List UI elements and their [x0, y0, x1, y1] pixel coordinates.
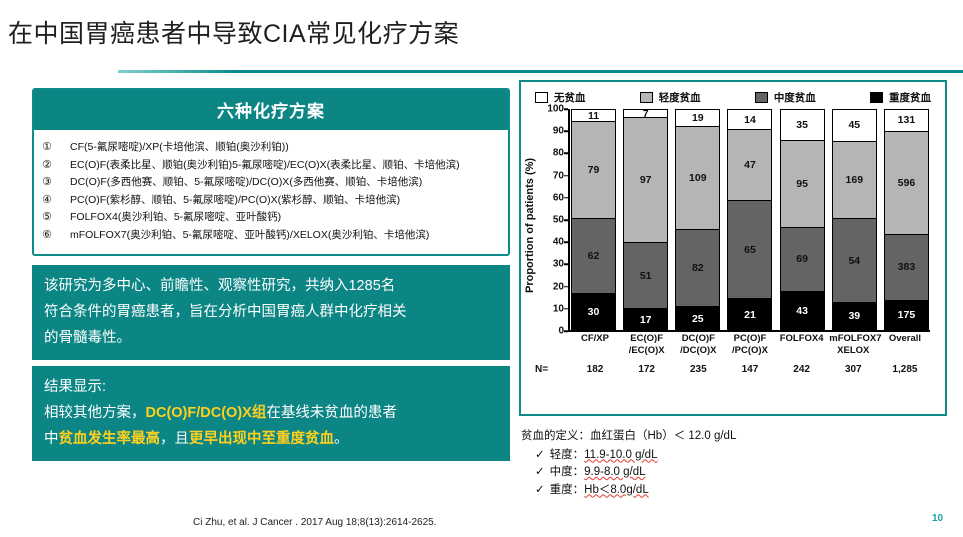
- y-axis-line: [568, 109, 570, 331]
- page-title: 在中国胃癌患者中导致CIA常见化疗方案: [8, 14, 459, 50]
- bar-segment-mild: 169: [832, 142, 877, 220]
- x-axis-labels: CF/XP EC(O)F/EC(O)XDC(O)F/DC(O)XPC(O)F/P…: [571, 333, 929, 356]
- bar-segment-severe: 25: [675, 307, 720, 331]
- chart-legend: 无贫血 轻度贫血 中度贫血 重度贫血: [521, 82, 945, 107]
- footnote-mild-label: 轻度：: [550, 449, 585, 461]
- n-label: N=: [529, 364, 571, 375]
- left-content-column: 六种化疗方案 ① CF(5-氟尿嘧啶)/XP(卡培他滨、顺铂(奥沙利铂)) ② …: [32, 88, 510, 461]
- study-summary-block: 该研究为多中心、前瞻性、观察性研究，共纳入1285名 符合条件的胃癌患者，旨在分…: [32, 265, 510, 360]
- legend-swatch-none-icon: [535, 92, 548, 103]
- list-item-label: EC(O)F(表柔比星、顺铂(奥沙利铂)5-氟尿嘧啶)/EC(O)X(表柔比星、…: [70, 157, 502, 174]
- list-item-number: ⑤: [42, 209, 70, 226]
- footnote-moderate-value: 9.9-8.0 g/dL: [584, 466, 645, 478]
- y-axis-tick-label: 20: [553, 281, 564, 292]
- y-axis-tick-label: 60: [553, 192, 564, 203]
- footnote-item-mild: ✓轻度：11.9-10.0 g/dL: [521, 447, 951, 465]
- bar-segment-severe: 17: [623, 309, 668, 331]
- legend-label-moderate: 中度贫血: [774, 90, 816, 105]
- list-item-label: CF(5-氟尿嘧啶)/XP(卡培他滨、顺铂(奥沙利铂)): [70, 139, 502, 156]
- x-axis-tick-label: Overall: [881, 333, 929, 356]
- check-icon: ✓: [535, 484, 545, 496]
- n-value: 307: [829, 364, 877, 375]
- bar-segment-moderate: 69: [780, 228, 825, 291]
- bar-segment-moderate: 383: [884, 235, 929, 301]
- list-item-label: FOLFOX4(奥沙利铂、5-氟尿嘧啶、亚叶酸钙): [70, 209, 502, 226]
- bar-segment-severe: 43: [780, 292, 825, 331]
- y-axis-ticks: 0102030405060708090100: [538, 109, 568, 331]
- bar-segment-none: 45: [832, 109, 877, 142]
- y-axis-tick-label: 80: [553, 148, 564, 159]
- bar-segment-none: 35: [780, 109, 825, 141]
- list-item: ② EC(O)F(表柔比星、顺铂(奥沙利铂)5-氟尿嘧啶)/EC(O)X(表柔比…: [42, 157, 502, 174]
- n-value: 242: [778, 364, 826, 375]
- results-text-a: 相较其他方案，: [44, 405, 146, 421]
- results-highlight-regimen: DC(O)F/DC(O)X组: [146, 405, 267, 421]
- list-item: ① CF(5-氟尿嘧啶)/XP(卡培他滨、顺铂(奥沙利铂)): [42, 139, 502, 156]
- footnote-item-severe: ✓重度：Hb＜8.0g/dL: [521, 482, 951, 500]
- title-divider: [118, 70, 963, 73]
- list-item: ④ PC(O)F(紫杉醇、顺铂、5-氟尿嘧啶)/PC(O)X(紫杉醇、顺铂、卡培…: [42, 192, 502, 209]
- check-icon: ✓: [535, 466, 545, 478]
- bar-column: 7975117: [623, 109, 668, 331]
- y-axis-tick-label: 90: [553, 126, 564, 137]
- study-summary-line-3: 的骨髓毒性。: [44, 325, 500, 351]
- results-text-e: 。: [334, 431, 349, 447]
- n-value: 1,285: [881, 364, 929, 375]
- results-highlight-incidence: 贫血发生率最高: [59, 431, 161, 447]
- bar-segment-mild: 79: [571, 122, 616, 218]
- y-axis-tick-label: 10: [553, 303, 564, 314]
- footnote-moderate-label: 中度：: [550, 466, 585, 478]
- regimen-list: ① CF(5-氟尿嘧啶)/XP(卡培他滨、顺铂(奥沙利铂)) ② EC(O)F(…: [34, 130, 508, 254]
- list-item-label: PC(O)F(紫杉醇、顺铂、5-氟尿嘧啶)/PC(O)X(紫杉醇、顺铂、卡培他滨…: [70, 192, 502, 209]
- legend-item-moderate: 中度贫血: [755, 90, 816, 105]
- list-item: ③ DC(O)F(多西他赛、顺铂、5-氟尿嘧啶)/DC(O)X(多西他赛、顺铂、…: [42, 174, 502, 191]
- y-axis-tick-label: 40: [553, 237, 564, 248]
- x-axis-tick-label: EC(O)F/EC(O)X: [623, 333, 671, 356]
- results-text-d: ，且: [160, 431, 189, 447]
- bar-segment-severe: 30: [571, 294, 616, 331]
- legend-swatch-mild-icon: [640, 92, 653, 103]
- y-axis-tick-label: 70: [553, 170, 564, 181]
- bar-segment-severe: 175: [884, 301, 929, 331]
- anemia-definition-footnote: 贫血的定义：血红蛋白（Hb）＜ 12.0 g/dL ✓轻度：11.9-10.0 …: [521, 428, 951, 499]
- legend-label-mild: 轻度贫血: [659, 90, 701, 105]
- bar-segment-none: 11: [571, 109, 616, 122]
- plot-area: Proportion of patients (%) 0102030405060…: [521, 109, 945, 361]
- bar-segment-moderate: 51: [623, 243, 668, 309]
- list-item-number: ②: [42, 157, 70, 174]
- bar-segment-none: 7: [623, 109, 668, 118]
- results-text-c: 中: [44, 431, 59, 447]
- bar-segment-moderate: 62: [571, 219, 616, 295]
- y-axis-tick-label: 30: [553, 259, 564, 270]
- y-axis-tick-label: 100: [547, 104, 564, 115]
- n-values-row: N= 1821722351472423071,285: [529, 364, 929, 375]
- legend-swatch-moderate-icon: [755, 92, 768, 103]
- page-number: 10: [932, 513, 943, 524]
- n-value: 172: [623, 364, 671, 375]
- footnote-mild-value: 11.9-10.0 g/dL: [584, 449, 657, 461]
- x-axis-tick-label: DC(O)F/DC(O)X: [674, 333, 722, 356]
- citation: Ci Zhu, et al. J Cancer . 2017 Aug 18;8(…: [193, 517, 437, 528]
- y-axis-label: Proportion of patients (%): [522, 111, 538, 339]
- footnote-definition: 贫血的定义：血红蛋白（Hb）＜ 12.0 g/dL: [521, 428, 951, 446]
- bar-segment-mild: 95: [780, 141, 825, 228]
- bar-segment-none: 19: [675, 109, 720, 127]
- study-summary-line-1: 该研究为多中心、前瞻性、观察性研究，共纳入1285名: [44, 273, 500, 299]
- n-value: 182: [571, 364, 619, 375]
- bar-column: 191098225: [675, 109, 720, 331]
- results-paragraph-2: 中贫血发生率最高，且更早出现中至重度贫血。: [44, 426, 500, 452]
- footnote-severe-value: Hb＜8.0g/dL: [584, 484, 649, 496]
- list-item: ⑤ FOLFOX4(奥沙利铂、5-氟尿嘧啶、亚叶酸钙): [42, 209, 502, 226]
- chart-panel: 无贫血 轻度贫血 中度贫血 重度贫血 Proportion of patient…: [519, 80, 947, 416]
- list-item-number: ③: [42, 174, 70, 191]
- footnote-severe-label: 重度：: [550, 484, 585, 496]
- results-text-b: 在基线未贫血的患者: [266, 405, 397, 421]
- bar-segment-mild: 109: [675, 127, 720, 230]
- regimen-card-heading: 六种化疗方案: [34, 90, 508, 130]
- list-item-number: ④: [42, 192, 70, 209]
- results-highlight-onset: 更早出现中至重度贫血: [189, 431, 334, 447]
- bar-segment-none: 131: [884, 109, 929, 132]
- check-icon: ✓: [535, 449, 545, 461]
- y-axis-tick-label: 50: [553, 215, 564, 226]
- bar-segment-mild: 596: [884, 132, 929, 235]
- bar-column: 451695439: [832, 109, 877, 331]
- legend-item-severe: 重度贫血: [870, 90, 931, 105]
- list-item: ⑥ mFOLFOX7(奥沙利铂、5-氟尿嘧啶、亚叶酸钙)/XELOX(奥沙利铂、…: [42, 227, 502, 244]
- list-item-number: ①: [42, 139, 70, 156]
- results-heading: 结果显示:: [44, 374, 500, 400]
- n-values: 1821722351472423071,285: [571, 364, 929, 375]
- x-axis-tick-label: FOLFOX4: [778, 333, 826, 356]
- results-block: 结果显示: 相较其他方案，DC(O)F/DC(O)X组在基线未贫血的患者 中贫血…: [32, 366, 510, 461]
- bar-segment-mild: 47: [727, 130, 772, 201]
- bar-series-container: 1179623079751171910982251447652135956943…: [571, 109, 929, 331]
- bar-segment-moderate: 65: [727, 201, 772, 299]
- x-axis-tick-label: mFOLFOX7XELOX: [829, 333, 877, 356]
- bar-segment-severe: 39: [832, 303, 877, 331]
- list-item-label: mFOLFOX7(奥沙利铂、5-氟尿嘧啶、亚叶酸钙)/XELOX(奥沙利铂、卡培…: [70, 227, 502, 244]
- bar-segment-severe: 21: [727, 299, 772, 331]
- bar-segment-moderate: 82: [675, 230, 720, 307]
- x-axis-tick-label: PC(O)F/PC(O)X: [726, 333, 774, 356]
- bar-column: 131596383175: [884, 109, 929, 331]
- footnote-item-moderate: ✓中度：9.9-8.0 g/dL: [521, 464, 951, 482]
- legend-label-severe: 重度贫血: [889, 90, 931, 105]
- legend-swatch-severe-icon: [870, 92, 883, 103]
- x-axis-tick-label: CF/XP: [571, 333, 619, 356]
- bar-column: 14476521: [727, 109, 772, 331]
- bar-column: 11796230: [571, 109, 616, 331]
- regimen-card: 六种化疗方案 ① CF(5-氟尿嘧啶)/XP(卡培他滨、顺铂(奥沙利铂)) ② …: [32, 88, 510, 256]
- bar-column: 35956943: [780, 109, 825, 331]
- list-item-label: DC(O)F(多西他赛、顺铂、5-氟尿嘧啶)/DC(O)X(多西他赛、顺铂、卡培…: [70, 174, 502, 191]
- results-paragraph-1: 相较其他方案，DC(O)F/DC(O)X组在基线未贫血的患者: [44, 400, 500, 426]
- bar-segment-none: 14: [727, 109, 772, 130]
- legend-item-mild: 轻度贫血: [640, 90, 701, 105]
- n-value: 147: [726, 364, 774, 375]
- study-summary-line-2: 符合条件的胃癌患者，旨在分析中国胃癌人群中化疗相关: [44, 299, 500, 325]
- bar-segment-mild: 97: [623, 118, 668, 243]
- bar-segment-moderate: 54: [832, 219, 877, 302]
- list-item-number: ⑥: [42, 227, 70, 244]
- n-value: 235: [674, 364, 722, 375]
